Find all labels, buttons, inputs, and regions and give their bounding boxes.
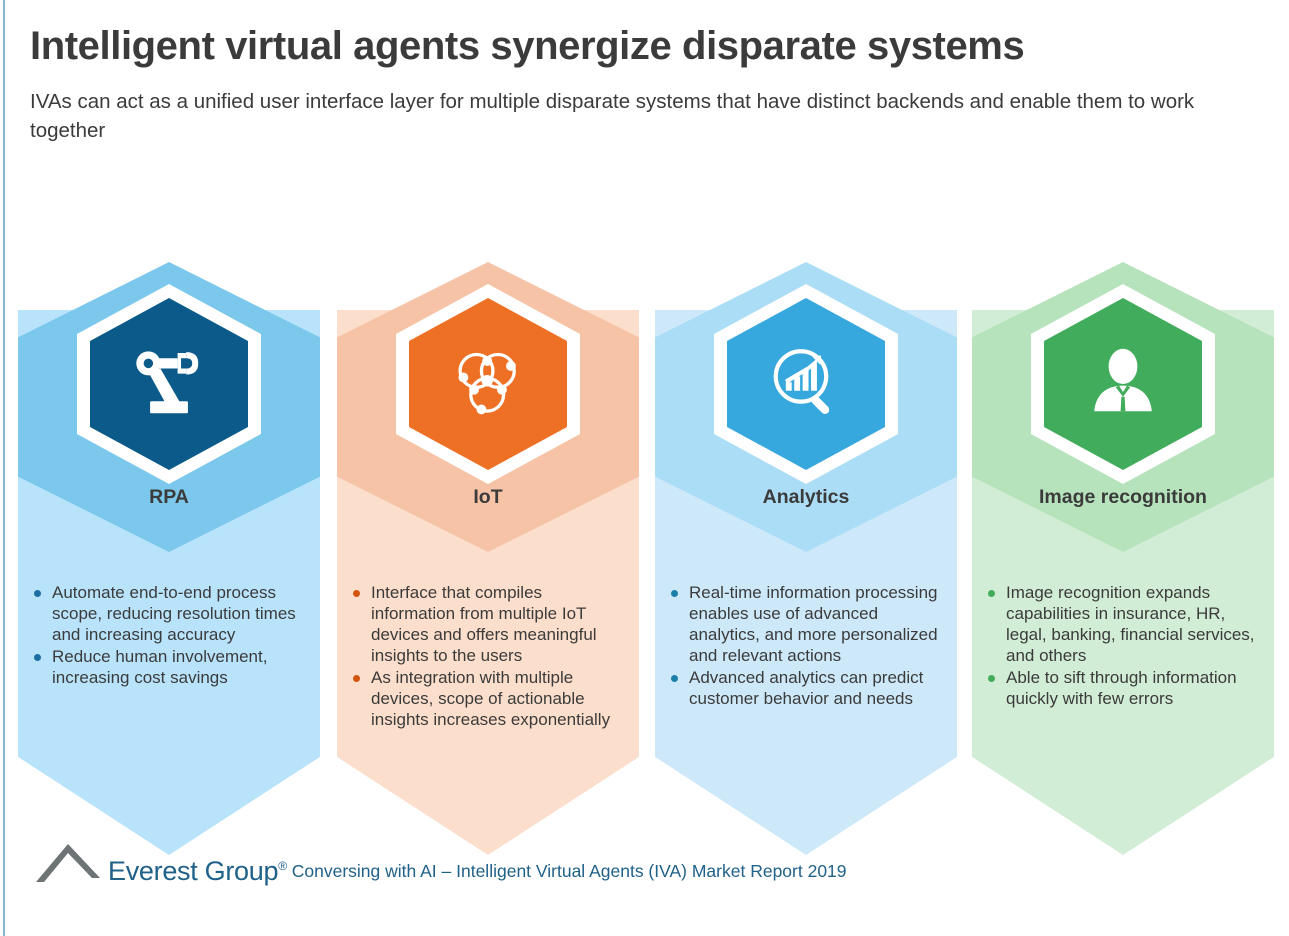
category-bullet-list: Image recognition expands capabilities i… — [986, 582, 1264, 710]
page-title: Intelligent virtual agents synergize dis… — [30, 24, 1240, 69]
hexagon-white-ring — [77, 284, 261, 484]
robot-arm-icon — [126, 341, 212, 427]
person-silhouette-icon — [1083, 343, 1163, 425]
category-label: Image recognition — [972, 486, 1274, 509]
category-label: IoT — [337, 486, 639, 509]
hexagon-icon-badge — [90, 298, 248, 470]
bullet-item: Able to sift through information quickly… — [986, 667, 1264, 709]
hexagon-white-ring — [1031, 284, 1215, 484]
bullet-item: Image recognition expands capabilities i… — [986, 582, 1264, 666]
category-bullet-list: Automate end-to-end process scope, reduc… — [32, 582, 310, 689]
bullet-item: Real-time information processing enables… — [669, 582, 947, 666]
logo-text-label: Everest Group — [108, 856, 278, 886]
bullet-item: Advanced analytics can predict customer … — [669, 667, 947, 709]
logo-wordmark: Everest Group® — [108, 858, 287, 885]
hexagon-icon-badge — [727, 298, 885, 470]
category-bullet-list: Interface that compiles information from… — [351, 582, 629, 732]
hexagon-icon-badge — [409, 298, 567, 470]
category-label: RPA — [18, 486, 320, 509]
header: Intelligent virtual agents synergize dis… — [30, 24, 1240, 145]
footer-caption: Conversing with AI – Intelligent Virtual… — [292, 861, 847, 882]
category-column-rpa: RPAAutomate end-to-end process scope, re… — [18, 262, 320, 862]
hexagon-white-ring — [396, 284, 580, 484]
category-label: Analytics — [655, 486, 957, 509]
registered-mark: ® — [278, 859, 287, 873]
network-nodes-icon — [447, 343, 529, 425]
everest-group-logo: Everest Group® — [34, 838, 287, 884]
category-column-image-recognition: Image recognitionImage recognition expan… — [972, 262, 1274, 862]
hexagon-icon-badge — [1044, 298, 1202, 470]
category-bullet-list: Real-time information processing enables… — [669, 582, 947, 710]
category-column-iot: IoTInterface that compiles information f… — [337, 262, 639, 862]
magnifier-bar-chart-icon — [764, 342, 848, 426]
bullet-item: Reduce human involvement, increasing cos… — [32, 646, 310, 688]
hexagon-white-ring — [714, 284, 898, 484]
bullet-item: Automate end-to-end process scope, reduc… — [32, 582, 310, 645]
footer: Everest Group® Conversing with AI – Inte… — [34, 838, 847, 884]
bullet-item: As integration with multiple devices, sc… — [351, 667, 629, 730]
bullet-item: Interface that compiles information from… — [351, 582, 629, 666]
mountain-peak-icon — [34, 838, 106, 884]
page-subtitle: IVAs can act as a unified user interface… — [30, 87, 1205, 145]
category-columns: RPAAutomate end-to-end process scope, re… — [0, 262, 1289, 862]
category-column-analytics: AnalyticsReal-time information processin… — [655, 262, 957, 862]
